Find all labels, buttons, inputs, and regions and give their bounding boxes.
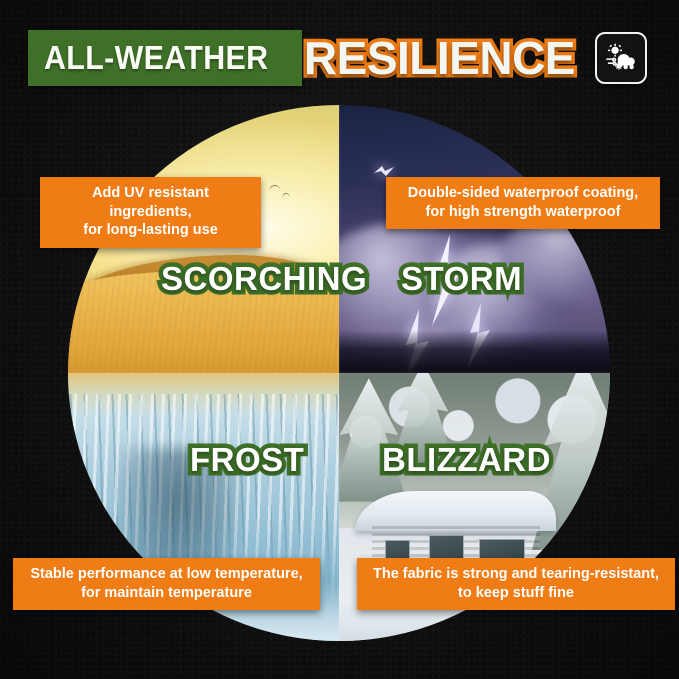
badge-blizzard: BLIZZARD <box>382 441 551 479</box>
header-green-block: ALL-WEATHER <box>28 30 302 86</box>
header-orange-block: RESILIENCE <box>298 30 581 86</box>
callout-line-2: for maintain temperature <box>25 584 308 603</box>
callout-low-temperature: Stable performance at low temperature, f… <box>13 558 320 610</box>
badge-storm: STORM <box>401 260 522 298</box>
callout-uv-resistant: Add UV resistant ingredients, for long-l… <box>40 177 261 248</box>
callout-line-1: Stable performance at low temperature, <box>30 566 302 582</box>
callout-line-1: The fabric is strong and tearing-resista… <box>373 566 659 582</box>
sun-cloud-wind-snow-rain-glyph <box>604 41 638 75</box>
all-weather-resilience-poster: ALL-WEATHER RESILIENCE <box>0 0 679 679</box>
callout-line-2: to keep stuff fine <box>369 584 663 603</box>
all-weather-icon <box>595 32 647 84</box>
collage-seam-horizontal <box>68 372 610 375</box>
badge-scorching: SCORCHING <box>161 260 367 298</box>
callout-line-1: Double-sided waterproof coating, <box>408 185 638 201</box>
header-title-resilience: RESILIENCE <box>304 31 575 85</box>
quadrant-storm-image <box>339 105 610 373</box>
poster-header: ALL-WEATHER RESILIENCE <box>28 30 647 86</box>
storm-treeline <box>339 330 610 373</box>
callout-line-2: for high strength waterproof <box>398 203 648 222</box>
callout-tearing-resistant: The fabric is strong and tearing-resista… <box>357 558 675 610</box>
header-title-all-weather: ALL-WEATHER <box>44 39 268 77</box>
callout-line-2: for long-lasting use <box>52 221 249 240</box>
callout-waterproof-coating: Double-sided waterproof coating, for hig… <box>386 177 660 229</box>
badge-frost: FROST <box>190 441 304 479</box>
callout-line-1: Add UV resistant ingredients, <box>92 185 209 220</box>
